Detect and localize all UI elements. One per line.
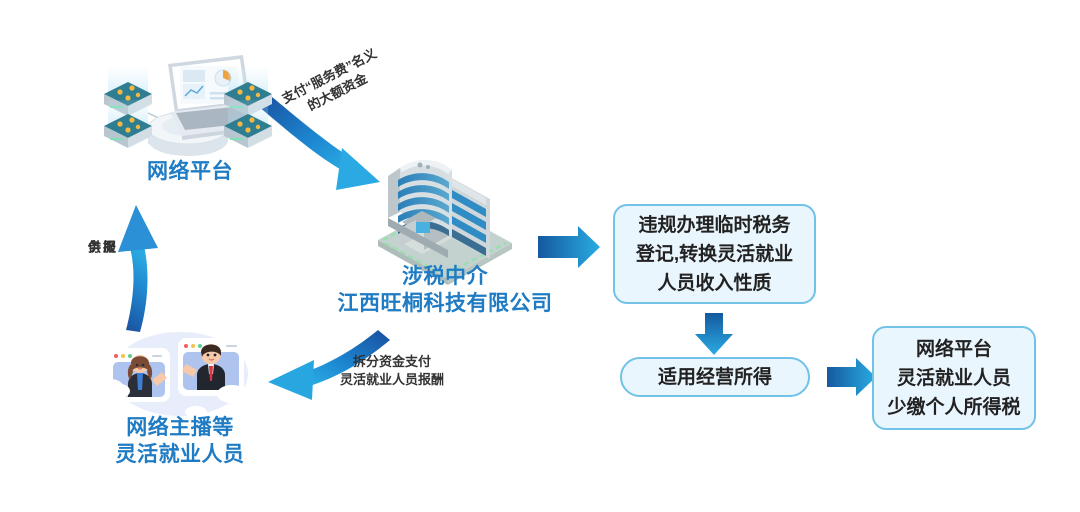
right-arrow-business-income-to-result-shape (827, 358, 876, 396)
box-violation-text: 违规办理临时税务 登记,转换灵活就业 人员收入性质 (636, 211, 793, 298)
label-network-platform-line1: 网络平台 (110, 158, 270, 185)
right-arrow-agency-to-violation-shape (538, 226, 600, 268)
arrow-label-anchors-to-platform-col2: 服务 (86, 240, 116, 254)
label-anchors: 网络主播等 灵活就业人员 (80, 414, 280, 468)
box-result-line2: 灵活就业人员 (887, 364, 1020, 393)
label-agency: 涉税中介 江西旺桐科技有限公司 (330, 263, 560, 317)
box-result-line1: 网络平台 (887, 335, 1020, 364)
label-agency-line1: 涉税中介 (330, 263, 560, 290)
box-result-line3: 少缴个人所得税 (887, 393, 1020, 422)
arrow-label-agency-to-anchors: 拆分资金支付 灵活就业人员报酬 (340, 353, 444, 389)
box-violation-line2: 登记,转换灵活就业 (636, 240, 793, 269)
arrow-label-agency-to-anchors-line2: 灵活就业人员报酬 (340, 371, 444, 389)
box-result-text: 网络平台 灵活就业人员 少缴个人所得税 (887, 335, 1020, 422)
box-violation-line1: 违规办理临时税务 (636, 211, 793, 240)
label-anchors-line2: 灵活就业人员 (80, 441, 280, 468)
up-arrow-anchors-to-platform-shape (118, 205, 158, 332)
box-violation-line3: 人员收入性质 (636, 269, 793, 298)
label-network-platform: 网络平台 (110, 158, 270, 185)
down-arrow-violation-to-business-income-shape (695, 313, 733, 355)
box-violation[interactable]: 违规办理临时税务 登记,转换灵活就业 人员收入性质 (613, 204, 816, 304)
box-business-income-line1: 适用经营所得 (658, 363, 772, 392)
label-agency-line2: 江西旺桐科技有限公司 (330, 290, 560, 317)
livestream-anchors-icon (96, 332, 254, 418)
diagram-canvas: 网络平台 涉税中介 江西旺桐科技有限公司 网络主播等 灵活就业人员 支付“服务费… (0, 0, 1080, 512)
box-business-income[interactable]: 适用经营所得 (620, 357, 810, 397)
label-anchors-line1: 网络主播等 (80, 414, 280, 441)
arrow-label-agency-to-anchors-line1: 拆分资金支付 (340, 353, 444, 371)
box-result[interactable]: 网络平台 灵活就业人员 少缴个人所得税 (872, 326, 1036, 430)
network-platform-icon (104, 55, 272, 156)
